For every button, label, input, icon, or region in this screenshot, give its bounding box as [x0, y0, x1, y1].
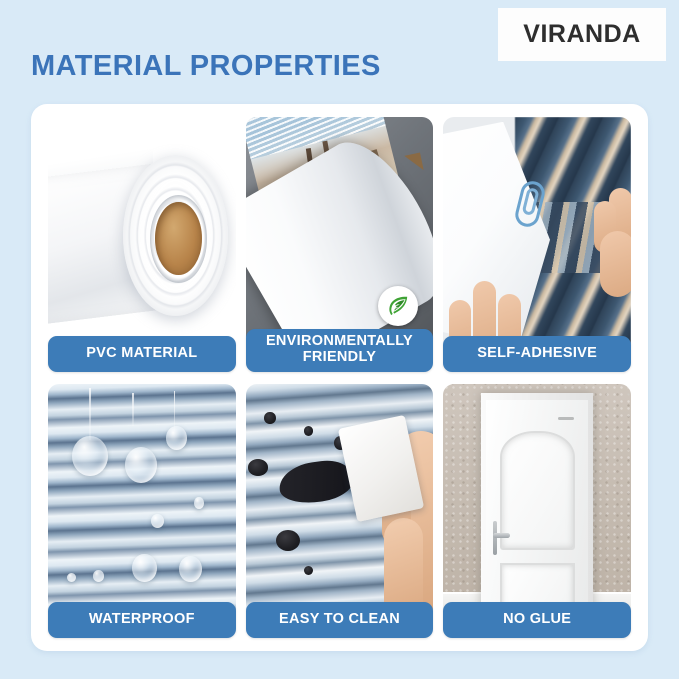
- water-drop-5: [179, 556, 202, 582]
- door-panel-top: [500, 431, 575, 550]
- feature-label-waterproof: WATERPROOF: [48, 602, 236, 638]
- drop-trail-2: [132, 393, 134, 426]
- feature-image-pvc-material: [48, 117, 236, 354]
- feature-image-environmentally-friendly: [246, 117, 434, 347]
- right-hand: [567, 188, 631, 297]
- water-drop-2: [125, 447, 157, 482]
- feature-card-pvc-material[interactable]: PVC MATERIAL: [48, 117, 236, 372]
- drop-trail-1: [89, 388, 91, 440]
- water-drop-4: [132, 554, 156, 582]
- easy-to-clean-illustration: [246, 384, 434, 621]
- feature-image-self-adhesive: [443, 117, 631, 354]
- self-adhesive-illustration: [443, 117, 631, 354]
- water-drop-6: [67, 573, 76, 582]
- door-handle: [493, 521, 497, 555]
- peeling-sheet-corner: [404, 152, 423, 173]
- door-leaf: [486, 400, 587, 620]
- stain-dot-2: [304, 426, 313, 435]
- page-title: MATERIAL PROPERTIES: [31, 50, 381, 83]
- brand-logo-box: VIRANDA: [498, 8, 666, 61]
- feature-card-no-glue[interactable]: NO GLUE: [443, 384, 631, 639]
- feature-card-easy-to-clean[interactable]: EASY TO CLEAN: [246, 384, 434, 639]
- drop-trail-3: [174, 391, 176, 431]
- feature-card-waterproof[interactable]: WATERPROOF: [48, 384, 236, 639]
- leaf-icon: [378, 286, 418, 326]
- stain-dot-6: [304, 566, 313, 575]
- feature-label-self-adhesive: SELF-ADHESIVE: [443, 336, 631, 372]
- stain-dot-5: [276, 530, 300, 551]
- feature-card-environmentally-friendly[interactable]: ENVIRONMENTALLY FRIENDLY: [246, 117, 434, 372]
- feature-label-line2: FRIENDLY: [266, 350, 413, 366]
- features-grid: PVC MATERIAL: [48, 117, 631, 638]
- water-drop-8: [151, 514, 164, 528]
- water-drop-3: [166, 426, 187, 450]
- door-vent: [558, 417, 574, 420]
- features-panel: PVC MATERIAL: [31, 104, 648, 651]
- feature-card-self-adhesive[interactable]: SELF-ADHESIVE: [443, 117, 631, 372]
- stain-dot-1: [264, 412, 275, 424]
- feature-label-easy-to-clean: EASY TO CLEAN: [246, 602, 434, 638]
- feature-label-no-glue: NO GLUE: [443, 602, 631, 638]
- roll-cardboard-core: [155, 202, 202, 275]
- door-illustration: [443, 384, 631, 621]
- water-drop-9: [194, 497, 203, 509]
- feature-image-easy-to-clean: [246, 384, 434, 621]
- stain-dot-4: [248, 459, 269, 476]
- water-drop-7: [93, 570, 104, 582]
- pvc-roll-illustration: [48, 117, 236, 354]
- feature-label-pvc-material: PVC MATERIAL: [48, 336, 236, 372]
- feature-label-environmentally-friendly: ENVIRONMENTALLY FRIENDLY: [246, 329, 434, 371]
- feature-image-waterproof: [48, 384, 236, 621]
- feature-label-line1: ENVIRONMENTALLY: [266, 333, 413, 349]
- feature-image-no-glue: [443, 384, 631, 621]
- door-frame: [481, 393, 594, 620]
- water-drop-1: [72, 436, 108, 476]
- brand-name: VIRANDA: [523, 20, 640, 49]
- eco-peel-illustration: [246, 117, 434, 347]
- waterproof-illustration: [48, 384, 236, 621]
